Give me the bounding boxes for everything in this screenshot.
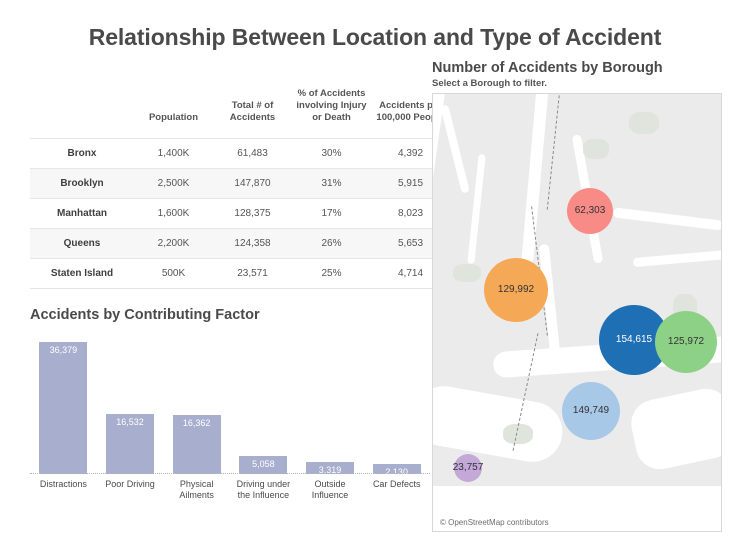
bar-value-label: 36,379 — [39, 345, 87, 355]
bar-category-label: Distractions — [30, 479, 97, 502]
bar-slot: 16,362 — [163, 329, 230, 474]
bar-category-label: Driving under the Influence — [230, 479, 297, 502]
bar-value-label: 5,058 — [239, 459, 287, 469]
table-row[interactable]: Queens2,200K124,35826%5,653 — [30, 228, 450, 258]
bar-category-label: Poor Driving — [97, 479, 164, 502]
bar-category-label: Outside Influence — [297, 479, 364, 502]
cell-pct-injury: 17% — [292, 198, 371, 228]
bar-series: 36,37916,53216,3625,0583,3192,130 — [30, 329, 430, 474]
left-column: Population Total # of Accidents % of Acc… — [30, 88, 430, 502]
map-bubble[interactable]: 149,749 — [562, 382, 620, 440]
map-title: Number of Accidents by Borough — [432, 60, 722, 77]
map-bubble[interactable]: 129,992 — [484, 258, 548, 322]
cell-borough: Brooklyn — [30, 168, 134, 198]
map-bubble-label: 62,303 — [575, 205, 606, 216]
bar-slot: 36,379 — [30, 329, 97, 474]
map-bubble-label: 23,757 — [453, 462, 484, 473]
table-row[interactable]: Manhattan1,600K128,37517%8,023 — [30, 198, 450, 228]
bar-slot: 16,532 — [97, 329, 164, 474]
map-bubble-layer: 62,303129,992154,615125,972149,74923,757 — [433, 94, 721, 531]
map-bubble[interactable]: 62,303 — [567, 188, 613, 234]
cell-borough: Queens — [30, 228, 134, 258]
cell-total-accidents: 147,870 — [213, 168, 292, 198]
table-header: Population Total # of Accidents % of Acc… — [30, 88, 450, 138]
cell-population: 1,600K — [134, 198, 213, 228]
bar[interactable]: 16,362 — [173, 415, 221, 474]
map-bubble[interactable]: 125,972 — [655, 311, 717, 373]
map-canvas[interactable]: 62,303129,992154,615125,972149,74923,757… — [432, 93, 722, 532]
cell-pct-injury: 26% — [292, 228, 371, 258]
map-subtitle: Select a Borough to filter. — [432, 78, 722, 89]
bar-value-label: 16,532 — [106, 417, 154, 427]
column-header-population: Population — [134, 88, 213, 138]
bar-chart-category-labels: DistractionsPoor DrivingPhysical Ailment… — [30, 479, 430, 502]
table-body: Bronx1,400K61,48330%4,392Brooklyn2,500K1… — [30, 138, 450, 288]
cell-population: 1,400K — [134, 138, 213, 168]
bar-category-label: Car Defects — [363, 479, 430, 502]
cell-borough: Manhattan — [30, 198, 134, 228]
page-title: Relationship Between Location and Type o… — [0, 24, 750, 51]
cell-population: 500K — [134, 258, 213, 288]
bar-category-label: Physical Ailments — [163, 479, 230, 502]
cell-total-accidents: 124,358 — [213, 228, 292, 258]
cell-pct-injury: 30% — [292, 138, 371, 168]
bar-slot: 5,058 — [230, 329, 297, 474]
cell-borough: Bronx — [30, 138, 134, 168]
cell-borough: Staten Island — [30, 258, 134, 288]
column-header-pct-injury: % of Accidents involving Injury or Death — [292, 88, 371, 138]
borough-stats-table: Population Total # of Accidents % of Acc… — [30, 88, 450, 289]
map-panel: Number of Accidents by Borough Select a … — [432, 60, 722, 532]
bar-slot: 3,319 — [297, 329, 364, 474]
bar-chart-plot: 36,37916,53216,3625,0583,3192,130 — [30, 329, 430, 474]
cell-pct-injury: 25% — [292, 258, 371, 288]
column-header-total-accidents: Total # of Accidents — [213, 88, 292, 138]
map-attribution: © OpenStreetMap contributors — [438, 518, 551, 527]
bar-chart-section: Accidents by Contributing Factor 36,3791… — [30, 307, 430, 502]
map-bubble-label: 149,749 — [573, 405, 609, 416]
map-bubble-label: 125,972 — [668, 336, 704, 347]
column-header-borough — [30, 88, 134, 138]
bar[interactable]: 16,532 — [106, 414, 154, 474]
bar-slot: 2,130 — [363, 329, 430, 474]
bar[interactable]: 5,058 — [239, 456, 287, 474]
table-row[interactable]: Bronx1,400K61,48330%4,392 — [30, 138, 450, 168]
bar-chart-baseline — [30, 473, 430, 474]
table-row[interactable]: Brooklyn2,500K147,87031%5,915 — [30, 168, 450, 198]
table-row[interactable]: Staten Island500K23,57125%4,714 — [30, 258, 450, 288]
cell-population: 2,500K — [134, 168, 213, 198]
map-bubble[interactable]: 23,757 — [454, 454, 482, 482]
bar-chart-title: Accidents by Contributing Factor — [30, 307, 430, 323]
bar-value-label: 2,130 — [373, 467, 421, 477]
bar[interactable]: 36,379 — [39, 342, 87, 474]
cell-total-accidents: 61,483 — [213, 138, 292, 168]
cell-pct-injury: 31% — [292, 168, 371, 198]
bar-value-label: 16,362 — [173, 418, 221, 428]
map-bubble-label: 129,992 — [498, 284, 534, 295]
cell-total-accidents: 23,571 — [213, 258, 292, 288]
cell-total-accidents: 128,375 — [213, 198, 292, 228]
table-header-row: Population Total # of Accidents % of Acc… — [30, 88, 450, 138]
cell-population: 2,200K — [134, 228, 213, 258]
map-bubble-label: 154,615 — [616, 334, 652, 345]
